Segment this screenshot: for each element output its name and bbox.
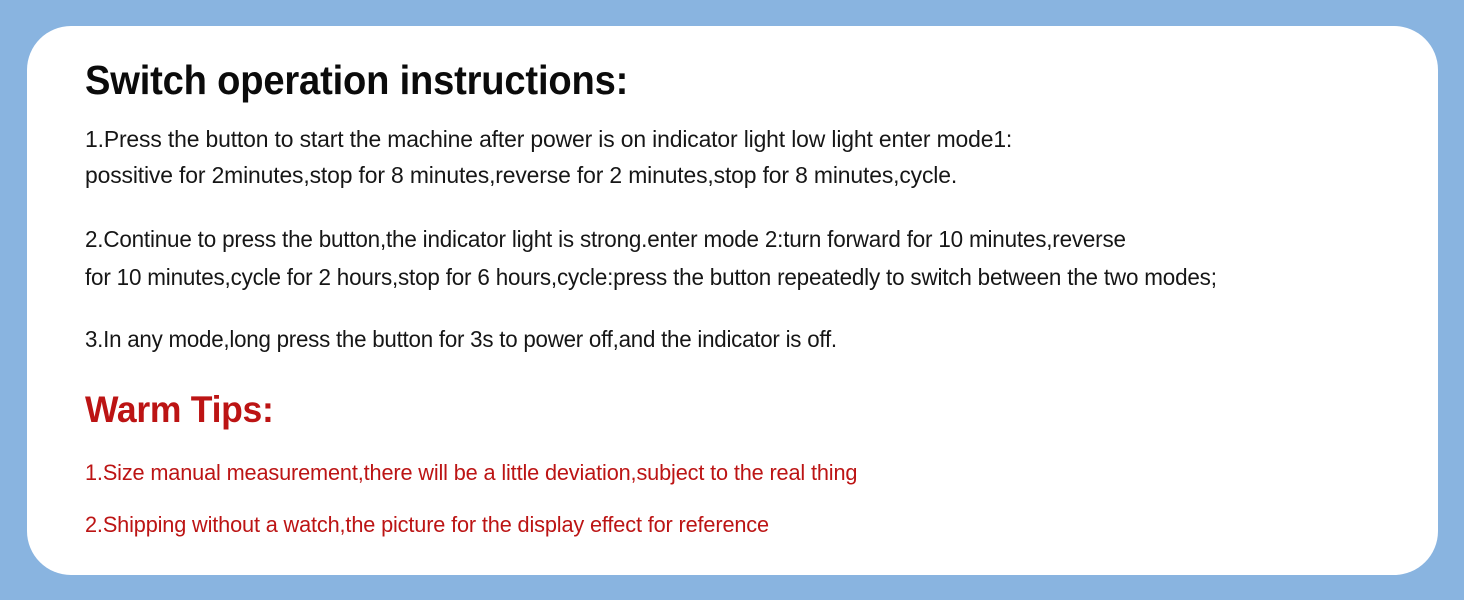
instruction-1-line-2: possitive for 2minutes,stop for 8 minute…: [85, 157, 1394, 193]
warm-tips-title: Warm Tips:: [85, 388, 1374, 432]
instruction-2-line-1: 2.Continue to press the button,the indic…: [85, 220, 1368, 258]
card-content: Switch operation instructions: 1.Press t…: [85, 40, 1428, 575]
instruction-1-line-1: 1.Press the button to start the machine …: [85, 121, 1394, 157]
instruction-item-2: 2.Continue to press the button,the indic…: [85, 220, 1368, 296]
page-title: Switch operation instructions:: [85, 40, 1334, 104]
warm-tip-2: 2.Shipping without a watch,the picture f…: [85, 510, 1381, 540]
instruction-3-line-1: 3.In any mode,long press the button for …: [85, 322, 1361, 356]
instruction-card: Switch operation instructions: 1.Press t…: [27, 26, 1438, 575]
page-background: Switch operation instructions: 1.Press t…: [0, 0, 1464, 600]
instruction-2-line-2: for 10 minutes,cycle for 2 hours,stop fo…: [85, 258, 1368, 296]
instruction-item-1: 1.Press the button to start the machine …: [85, 121, 1394, 193]
warm-tip-1: 1.Size manual measurement,there will be …: [85, 458, 1381, 488]
instruction-item-3: 3.In any mode,long press the button for …: [85, 322, 1361, 356]
